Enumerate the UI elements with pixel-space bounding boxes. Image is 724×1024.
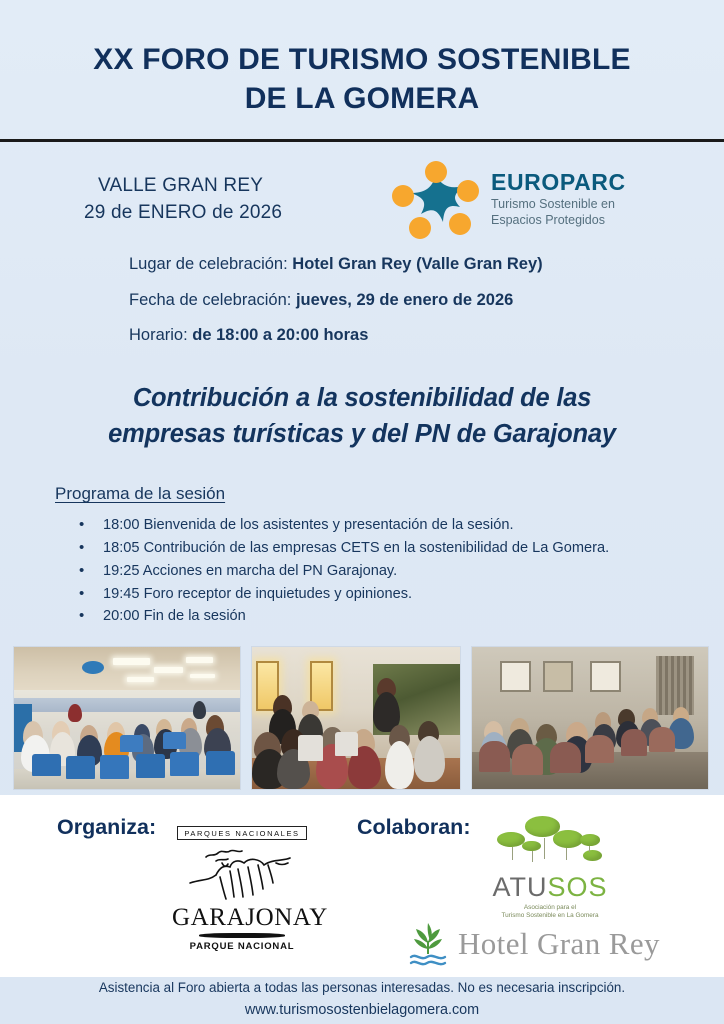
detail-date-label: Fecha de celebración: (129, 291, 296, 309)
title-line-1: XX FORO DE TURISMO SOSTENIBLE (0, 40, 724, 79)
list-item: 18:00 Bienvenida de los asistentes y pre… (79, 514, 724, 537)
atusos-subline: Asociación para el Turismo Sostenible en… (487, 904, 613, 921)
garajonay-underline (199, 933, 285, 938)
session-subject: Contribución a la sostenibilidad de las … (0, 363, 724, 453)
detail-date-value: jueves, 29 de enero de 2026 (296, 291, 513, 309)
event-date: 29 de ENERO de 2026 (84, 200, 380, 227)
europarc-tagline-line-2: Espacios Protegidos (491, 213, 605, 227)
europarc-text-block: EUROPARC Turismo Sostenible en Espacios … (491, 171, 626, 228)
attendance-note: Asistencia al Foro abierta a todas las p… (0, 978, 724, 1022)
title-line-2: DE LA GOMERA (0, 79, 724, 118)
program-heading: Programa de la sesión (55, 484, 724, 504)
europarc-logo: EUROPARC Turismo Sostenible en Espacios … (380, 160, 626, 240)
atusos-subline-2: Turismo Sostenible en La Gomera (501, 912, 598, 919)
photo-talk-with-mural (251, 646, 461, 790)
photo-strip (13, 646, 711, 790)
sponsors-band: Organiza: Colaboran: PARQUES NACIONALES (0, 795, 724, 977)
garajonay-subtitle: PARQUE NACIONAL (172, 941, 312, 952)
parques-nacionales-label: PARQUES NACIONALES (177, 826, 306, 840)
program-section: Programa de la sesión 18:00 Bienvenida d… (0, 452, 724, 628)
list-item: 18:05 Contribución de las empresas CETS … (79, 537, 724, 560)
detail-date: Fecha de celebración: jueves, 29 de ener… (129, 292, 724, 309)
event-location: VALLE GRAN REY (84, 173, 380, 200)
attendance-note-line: Asistencia al Foro abierta a todas las p… (0, 978, 724, 999)
website-url[interactable]: www.turismosostenbielagomera.com (0, 999, 724, 1022)
event-location-block: VALLE GRAN REY 29 de ENERO de 2026 (40, 173, 380, 227)
atusos-logo: ATUSOS Asociación para el Turismo Sosten… (487, 815, 613, 923)
atusos-subline-1: Asociación para el (524, 904, 576, 911)
atusos-word-atu: ATU (492, 872, 547, 902)
garajonay-landscape-icon (172, 845, 312, 905)
session-subject-line-1: Contribución a la sostenibilidad de las (42, 380, 682, 416)
photo-hotel-salon (471, 646, 709, 790)
detail-venue: Lugar de celebración: Hotel Gran Rey (Va… (129, 256, 724, 273)
page-title: XX FORO DE TURISMO SOSTENIBLE DE LA GOME… (0, 0, 724, 118)
detail-time-label: Horario: (129, 326, 192, 344)
detail-venue-label: Lugar de celebración: (129, 255, 292, 273)
program-list: 18:00 Bienvenida de los asistentes y pre… (55, 514, 724, 628)
atusos-wordmark: ATUSOS (487, 874, 613, 901)
atusos-trees-icon (487, 815, 613, 879)
event-header: VALLE GRAN REY 29 de ENERO de 2026 EUROP… (0, 142, 724, 240)
europarc-tagline-line-1: Turismo Sostenible en (491, 197, 615, 211)
garajonay-logo: PARQUES NACIONALES (172, 823, 312, 952)
atusos-word-sos: SOS (547, 872, 607, 902)
organiza-label: Organiza: (57, 815, 156, 840)
europarc-brand: EUROPARC (491, 171, 626, 194)
hotel-gran-rey-logo: Hotel Gran Rey (408, 921, 660, 967)
hotel-gran-rey-name: Hotel Gran Rey (458, 926, 660, 962)
list-item: 19:25 Acciones en marcha del PN Garajona… (79, 560, 724, 583)
colaboran-label: Colaboran: (357, 815, 470, 840)
europarc-star-mark (390, 160, 482, 240)
photo-meeting-room-blue-chairs (13, 646, 241, 790)
detail-time-value: de 18:00 a 20:00 horas (192, 326, 368, 344)
session-subject-line-2: empresas turísticas y del PN de Garajona… (42, 416, 682, 452)
event-details: Lugar de celebración: Hotel Gran Rey (Va… (0, 240, 724, 344)
garajonay-name: GARAJONAY (172, 905, 312, 930)
list-item: 20:00 Fin de la sesión (79, 605, 724, 628)
detail-venue-value: Hotel Gran Rey (Valle Gran Rey) (292, 255, 542, 273)
europarc-tagline: Turismo Sostenible en Espacios Protegido… (491, 197, 626, 228)
leaf-and-waves-icon (408, 921, 448, 967)
detail-time: Horario: de 18:00 a 20:00 horas (129, 327, 724, 344)
poster-root: XX FORO DE TURISMO SOSTENIBLE DE LA GOME… (0, 0, 724, 1024)
list-item: 19:45 Foro receptor de inquietudes y opi… (79, 583, 724, 606)
